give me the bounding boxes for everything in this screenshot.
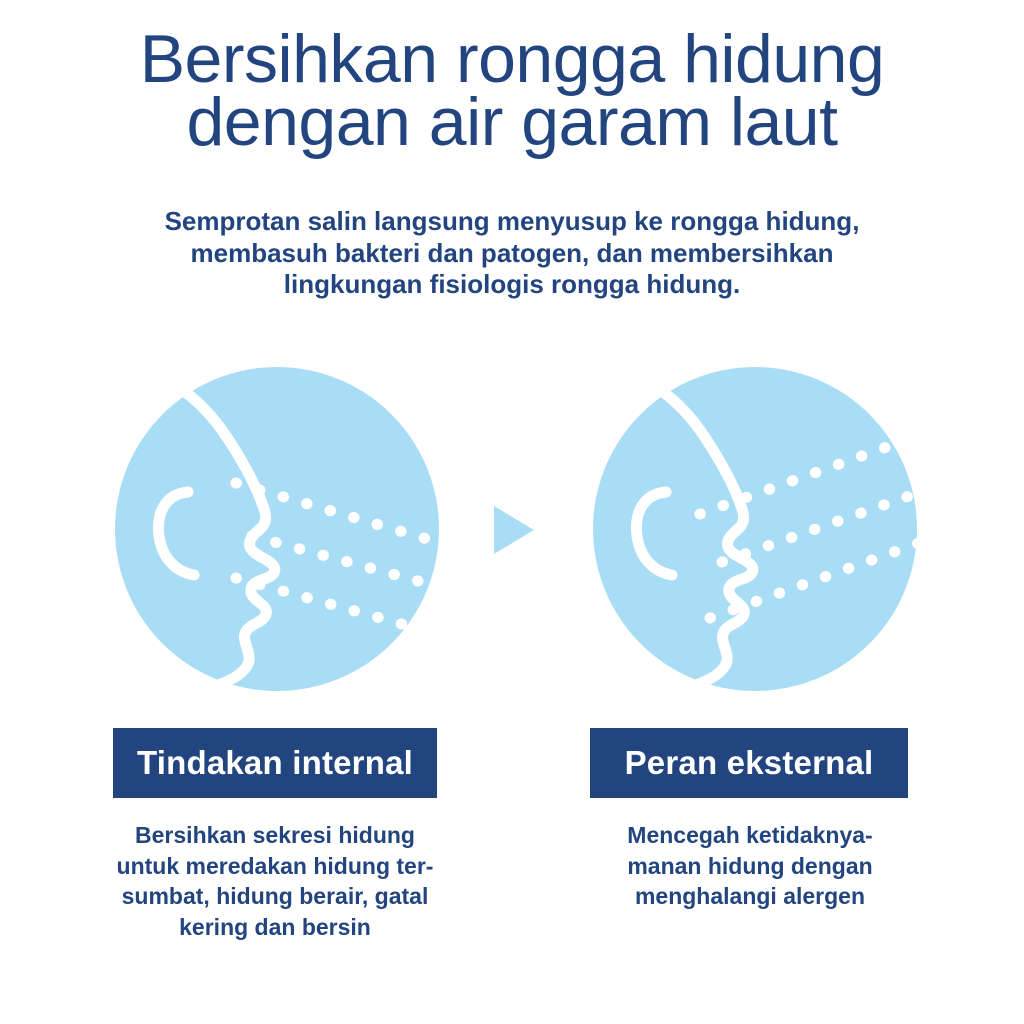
- face-profile-airflow-deflected-icon: [592, 366, 918, 692]
- page-subtitle-line-3: lingkungan fisiologis rongga hidung.: [0, 269, 1024, 301]
- infographic-page: Bersihkan rongga hidung dengan air garam…: [0, 0, 1024, 1024]
- page-subtitle-line-2: membasuh bakteri dan patogen, dan member…: [0, 238, 1024, 270]
- page-title-line-2: dengan air garam laut: [0, 91, 1024, 154]
- illustration-internal-action: [114, 366, 440, 692]
- caption-external-line-2: manan hidung dengan: [585, 851, 915, 882]
- page-title-line-1: Bersihkan rongga hidung: [0, 28, 1024, 91]
- label-bar-internal: Tindakan internal: [113, 728, 437, 798]
- caption-internal-line-4: kering dan bersin: [110, 912, 440, 943]
- illustration-row: [0, 366, 1024, 692]
- right-triangle-arrow-icon: [478, 496, 546, 564]
- page-subtitle: Semprotan salin langsung menyusup ke ron…: [0, 206, 1024, 301]
- caption-external-line-3: menghalangi alergen: [585, 881, 915, 912]
- caption-external-line-1: Mencegah ketidaknya-: [585, 820, 915, 851]
- illustration-external-role: [592, 366, 918, 692]
- face-profile-airflow-inward-icon: [114, 366, 440, 692]
- label-bar-external-text: Peran eksternal: [625, 744, 874, 782]
- label-bar-internal-text: Tindakan internal: [137, 744, 413, 782]
- caption-internal-line-1: Bersihkan sekresi hidung: [110, 820, 440, 851]
- caption-internal: Bersihkan sekresi hidung untuk meredakan…: [110, 820, 440, 942]
- page-title: Bersihkan rongga hidung dengan air garam…: [0, 28, 1024, 153]
- caption-internal-line-3: sumbat, hidung berair, gatal: [110, 881, 440, 912]
- caption-internal-line-2: untuk meredakan hidung ter-: [110, 851, 440, 882]
- page-subtitle-line-1: Semprotan salin langsung menyusup ke ron…: [0, 206, 1024, 238]
- progress-arrow: [478, 496, 546, 564]
- caption-external: Mencegah ketidaknya- manan hidung dengan…: [585, 820, 915, 912]
- label-bar-external: Peran eksternal: [590, 728, 908, 798]
